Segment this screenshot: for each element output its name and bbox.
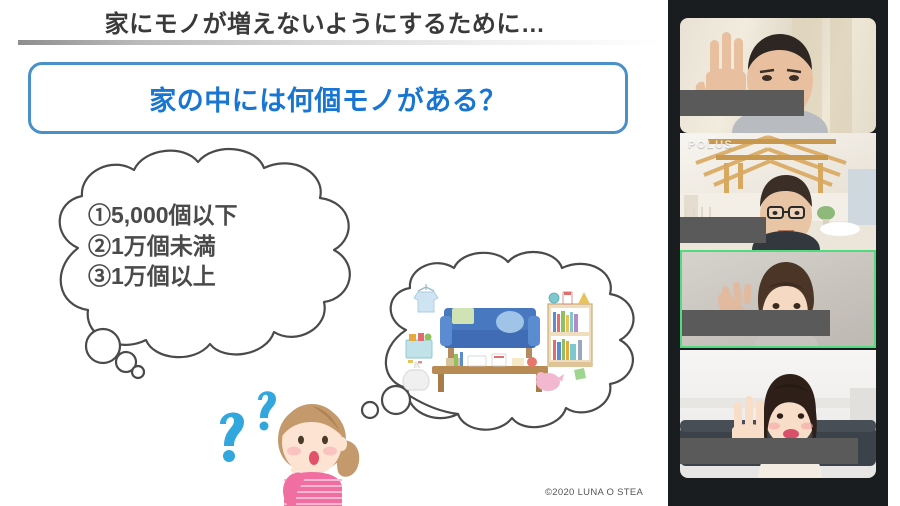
toy-box-icon (406, 333, 432, 364)
polus-watermark-sub: POLUS HOME (689, 135, 718, 139)
option-item-2: ②1万個未満 (88, 231, 348, 262)
slide-title: 家にモノが増えないようにするために… (0, 4, 650, 39)
video-tile-participant-4[interactable] (680, 350, 876, 478)
copyright-notice: ©2020 LUNA O STEA (545, 487, 643, 498)
title-divider (18, 40, 666, 45)
plush-toy-icon (536, 372, 564, 391)
question-callout-box: 家の中には何個モノがある？ (28, 62, 628, 134)
participant-name-redacted-3 (682, 310, 830, 336)
green-object-icon (574, 368, 586, 380)
option-item-1: ①5,000個以下 (88, 200, 348, 231)
video-participants-panel: POLUS POLUS HOME (668, 0, 888, 506)
cluttered-room-illustration (398, 278, 598, 396)
polus-watermark: POLUS (688, 139, 733, 151)
sofa-icon (440, 308, 540, 358)
option-item-3: ③1万個以上 (88, 261, 348, 292)
thought-bubble-options: ①5,000個以下 ②1万個未満 ③1万個以上 (8, 140, 388, 380)
options-list: ①5,000個以下 ②1万個未満 ③1万個以上 (88, 200, 348, 292)
coffee-table-icon (432, 352, 548, 392)
panel-right-margin (888, 0, 900, 506)
laundry-bag-icon (403, 362, 429, 390)
participant-name-redacted-1 (680, 90, 804, 116)
participant-name-redacted-2 (680, 217, 766, 243)
presentation-screenshare-view: 家にモノが増えないようにするために… 家の中には何個モノがある？ ①5,000個… (0, 0, 900, 506)
bookshelf-icon (548, 292, 592, 367)
question-callout-text: 家の中には何個モノがある？ (149, 79, 507, 118)
thinking-woman-illustration (206, 378, 376, 506)
hanging-dress-icon (414, 284, 438, 312)
video-tile-participant-1[interactable] (680, 18, 876, 133)
slide-content-area: 家にモノが増えないようにするために… 家の中には何個モノがある？ ①5,000個… (0, 0, 668, 506)
participant-name-redacted-4 (680, 438, 858, 464)
question-mark-icon (220, 391, 276, 462)
video-tile-participant-2[interactable]: POLUS POLUS HOME (680, 133, 876, 250)
video-tile-participant-3[interactable] (680, 250, 876, 348)
